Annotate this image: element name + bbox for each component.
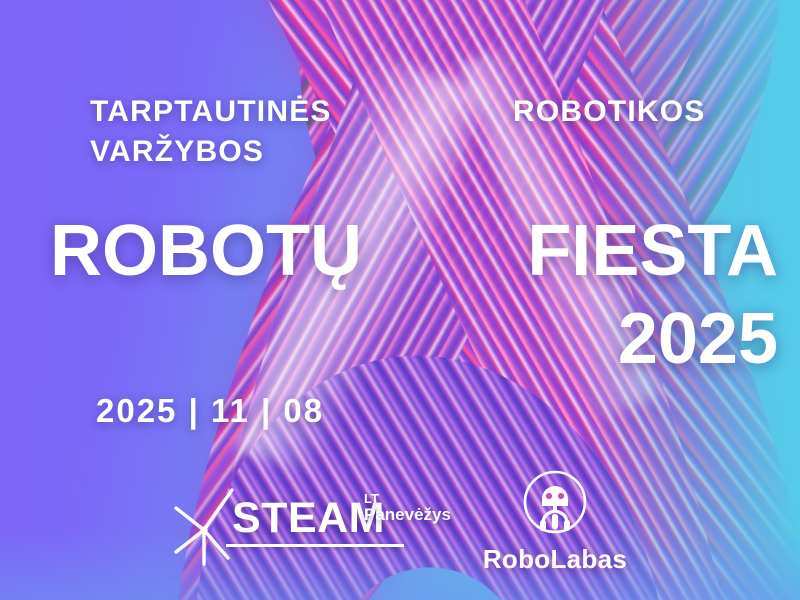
- title-left: ROBOTŲ: [50, 215, 362, 287]
- steam-city: Panevėžys: [364, 506, 451, 524]
- kicker-left: TARPTAUTINĖS VARŽYBOS: [90, 92, 332, 171]
- kicker-right: ROBOTIKOS: [513, 92, 705, 132]
- title-right-year: 2025: [618, 303, 778, 375]
- steam-underline: [226, 544, 404, 547]
- steam-subtitle: LT Panevėžys: [364, 492, 451, 524]
- starburst-icon: [170, 486, 240, 566]
- kicker-left-line2: VARŽYBOS: [90, 132, 332, 172]
- robolabas-wordmark: RoboLabas: [470, 544, 640, 575]
- steam-wordmark: STEAM: [232, 494, 385, 543]
- event-date: 2025 | 11 | 08: [96, 392, 324, 430]
- kicker-left-line1: TARPTAUTINĖS: [90, 92, 332, 132]
- robolabas-logo: RoboLabas: [470, 462, 640, 574]
- robot-in-circle-icon: [515, 462, 595, 542]
- event-poster: TARPTAUTINĖS VARŽYBOS ROBOTIKOS ROBOTŲ F…: [0, 0, 800, 600]
- steam-lt-logo: STEAM LT Panevėžys: [176, 482, 456, 572]
- steam-country: LT: [364, 492, 451, 506]
- title-right-fiesta: FIESTA: [527, 215, 778, 287]
- starburst-center-dot: [200, 526, 207, 533]
